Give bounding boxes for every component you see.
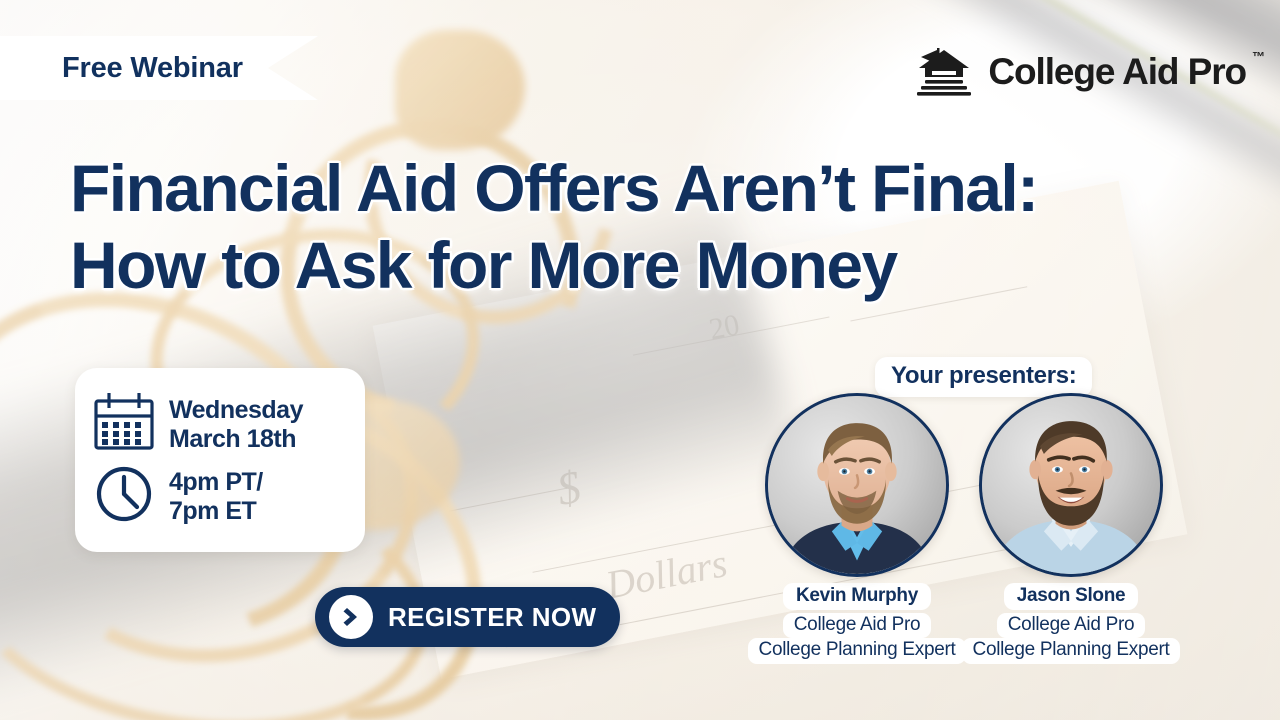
presenter-card: Jason Slone College Aid Pro College Plan… [976, 393, 1166, 664]
presenters-heading: Your presenters: [875, 357, 1092, 397]
event-date-row: Wednesday March 18th [93, 392, 347, 457]
logo-wordmark: College Aid Pro ™ [988, 51, 1246, 93]
event-date-line-1: Wednesday [169, 396, 303, 424]
event-time-text: 4pm PT/ 7pm ET [169, 468, 263, 526]
trademark-symbol: ™ [1252, 49, 1265, 64]
clock-icon [93, 463, 155, 530]
calendar-icon [93, 392, 155, 457]
webinar-promo-graphic: 20 $ Dollars Free Webinar [0, 0, 1280, 720]
presenter-card: Kevin Murphy College Aid Pro College Pla… [762, 393, 952, 664]
headline-line-2: How to Ask for More Money [70, 227, 1190, 304]
page-title: Financial Aid Offers Aren’t Final: How t… [70, 150, 1190, 303]
chevron-right-icon[interactable] [329, 595, 373, 639]
logo-wordmark-text: College Aid Pro [988, 51, 1246, 92]
presenter-name: Jason Slone [1004, 583, 1139, 610]
presenter-title: College Aid Pro College Planning Expert [962, 613, 1181, 664]
register-now-label: REGISTER NOW [388, 602, 596, 633]
event-datetime-card: Wednesday March 18th 4pm PT/ 7pm ET [75, 368, 365, 552]
register-now-button[interactable]: REGISTER NOW [315, 587, 620, 647]
headline-line-1: Financial Aid Offers Aren’t Final: [70, 150, 1190, 227]
event-date-text: Wednesday March 18th [169, 396, 303, 454]
brand-logo: College Aid Pro ™ [913, 44, 1246, 100]
event-time-line-2: 7pm ET [169, 497, 256, 525]
event-time-row: 4pm PT/ 7pm ET [93, 463, 347, 530]
avatar-jason-slone [979, 393, 1163, 577]
avatar-kevin-murphy [765, 393, 949, 577]
presenter-org: College Aid Pro [783, 613, 931, 638]
presenter-org: College Aid Pro [997, 613, 1145, 638]
presenter-role: College Planning Expert [962, 638, 1181, 663]
presenters-list: Kevin Murphy College Aid Pro College Pla… [762, 393, 1222, 664]
ribbon-label: Free Webinar [62, 52, 243, 85]
presenter-role: College Planning Expert [748, 638, 967, 663]
college-aid-pro-building-icon [913, 44, 975, 100]
presenter-name: Kevin Murphy [783, 583, 931, 610]
event-date-line-2: March 18th [169, 425, 296, 453]
presenter-title: College Aid Pro College Planning Expert [748, 613, 967, 664]
event-time-line-1: 4pm PT/ [169, 468, 263, 496]
